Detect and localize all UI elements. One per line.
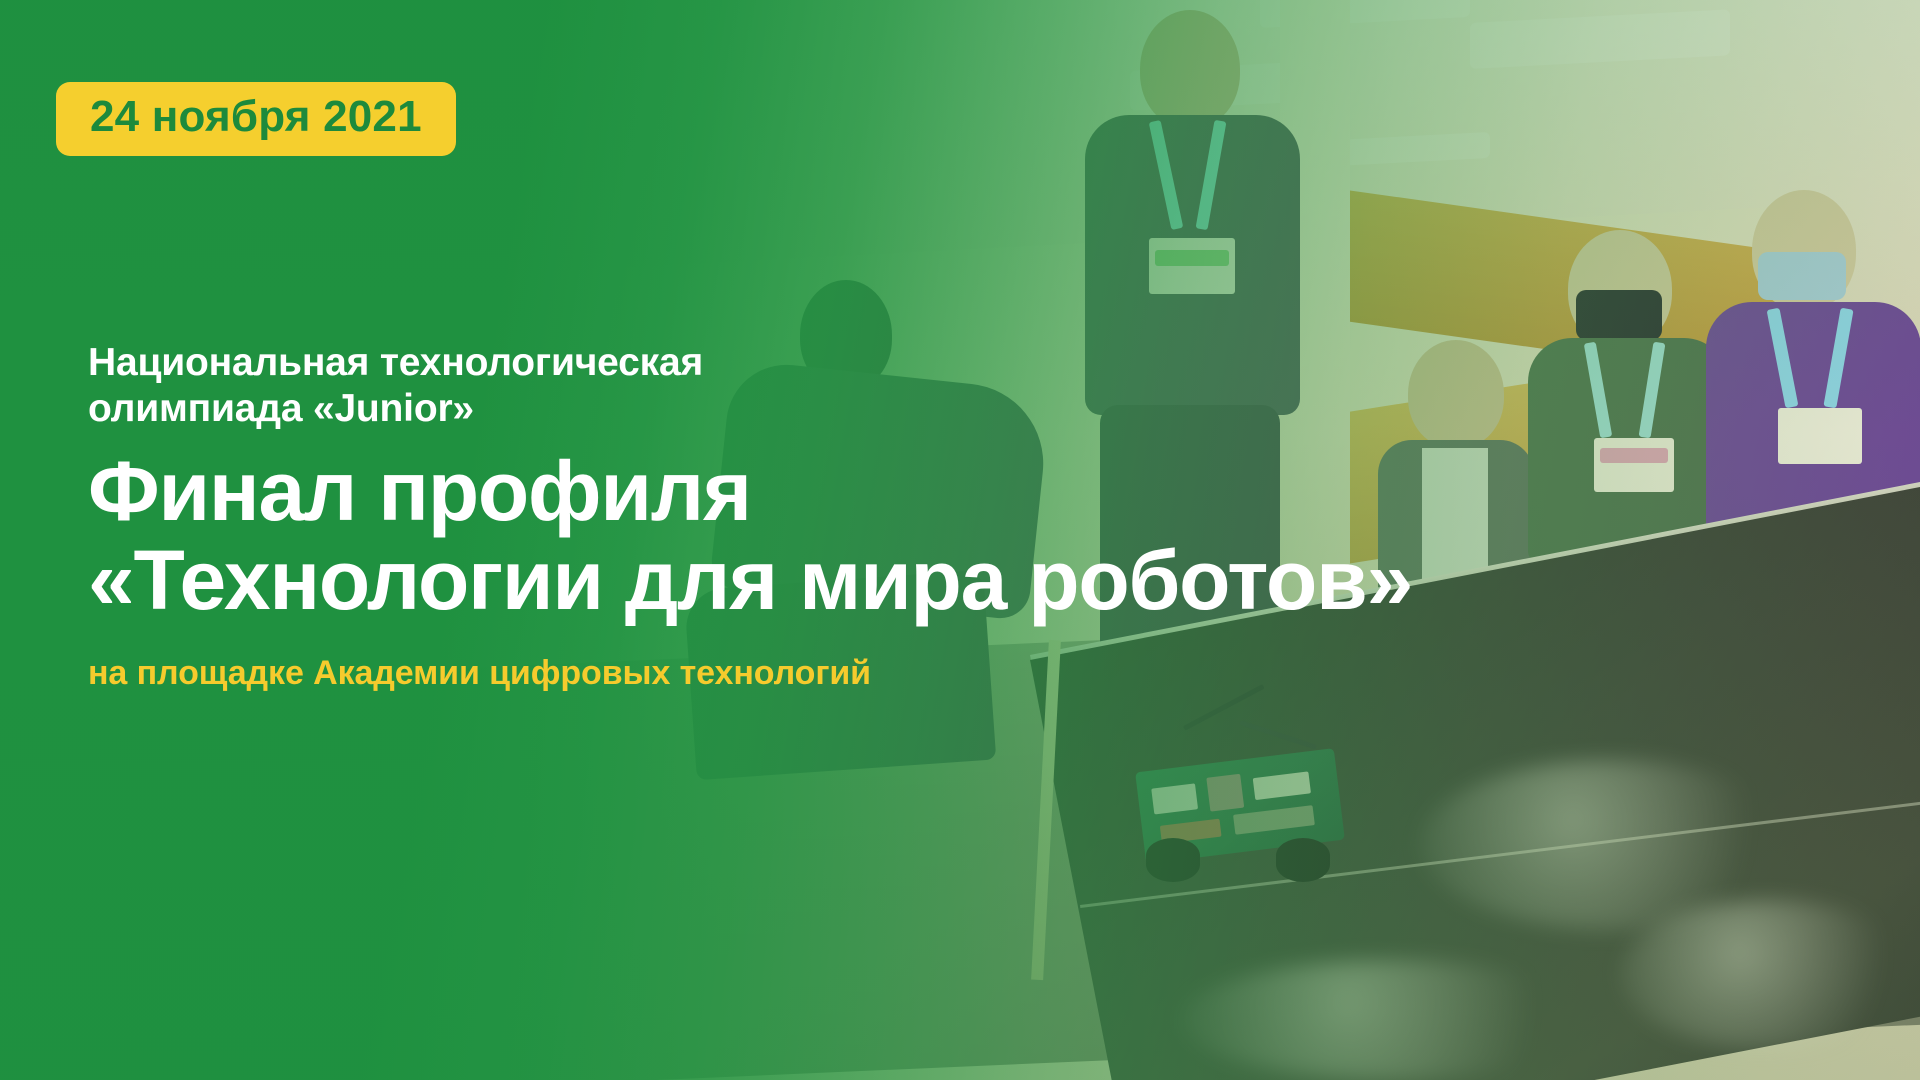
event-date-badge: 24 ноября 2021 — [56, 82, 456, 156]
venue-subtitle: на площадке Академии цифровых технологий — [88, 653, 1508, 694]
event-promo-banner: 24 ноября 2021 Национальная технологичес… — [0, 0, 1920, 1080]
page-title: Финал профиля «Технологии для мира робот… — [88, 447, 1508, 625]
olympiad-name: Национальная технологическая олимпиада «… — [88, 340, 1508, 431]
banner-content: 24 ноября 2021 Национальная технологичес… — [0, 0, 1920, 1080]
banner-text-block: Национальная технологическая олимпиада «… — [88, 340, 1508, 694]
